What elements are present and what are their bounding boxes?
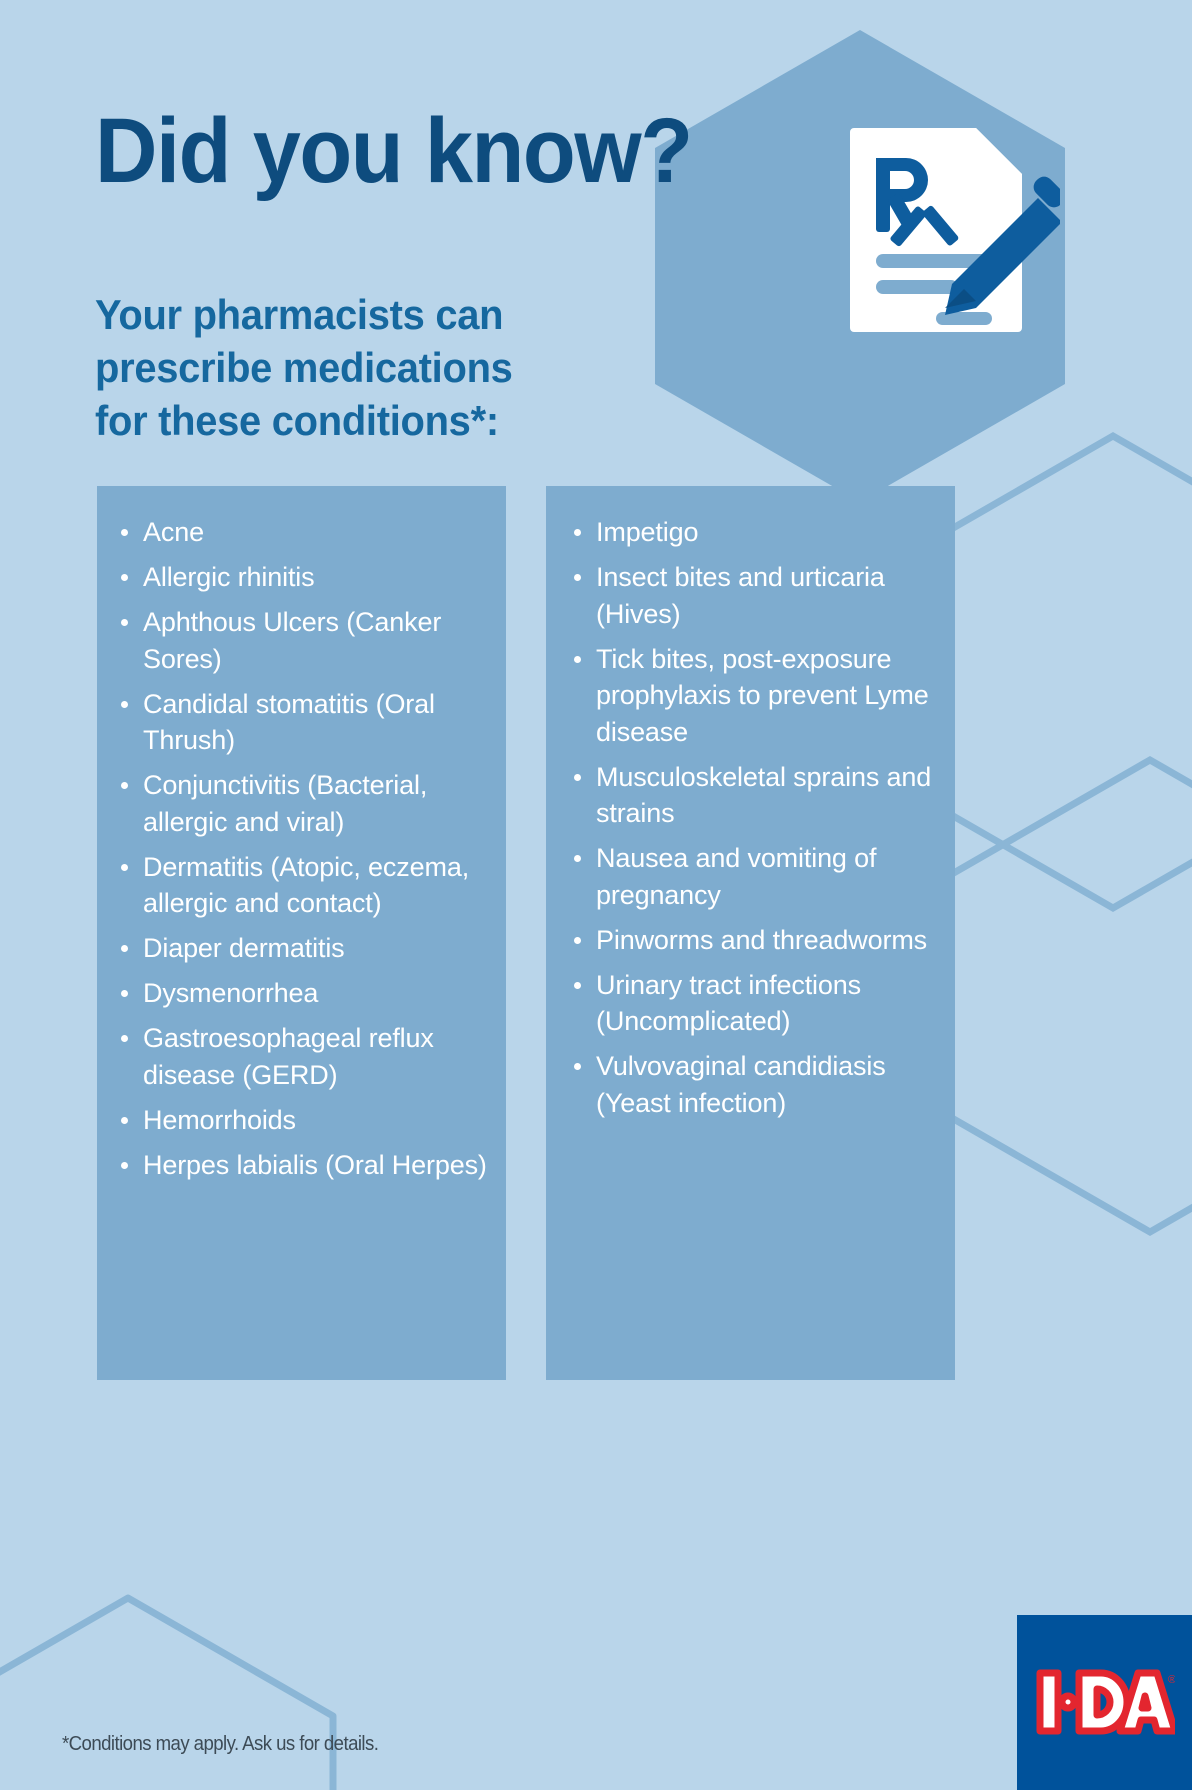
conditions-panel-left: Acne Allergic rhinitis Aphthous Ulcers (… <box>97 486 506 1380</box>
conditions-panel-right: Impetigo Insect bites and urticaria (Hiv… <box>546 486 955 1380</box>
list-item: Impetigo <box>568 514 958 551</box>
list-item: Dermatitis (Atopic, eczema, allergic and… <box>115 849 507 922</box>
list-item: Diaper dermatitis <box>115 930 507 967</box>
list-item: Conjunctivitis (Bacterial, allergic and … <box>115 767 507 840</box>
list-item: Candidal stomatitis (Oral Thrush) <box>115 686 507 759</box>
subtitle-line-1: Your pharmacists can <box>95 288 513 341</box>
document-folded-corner <box>976 128 1022 174</box>
hexagon-outline-bottom-left <box>0 1598 333 1790</box>
list-item: Herpes labialis (Oral Herpes) <box>115 1147 507 1184</box>
list-item: Pinworms and threadworms <box>568 922 958 959</box>
document-signature-line <box>936 312 992 325</box>
subtitle-line-3: for these conditions*: <box>95 394 513 447</box>
hexagon-outline-right-lower <box>945 760 1192 1232</box>
disclaimer-text: *Conditions may apply. Ask us for detail… <box>62 1733 378 1756</box>
list-item: Nausea and vomiting of pregnancy <box>568 840 958 913</box>
list-item: Urinary tract infections (Uncomplicated) <box>568 967 958 1040</box>
list-item: Dysmenorrhea <box>115 975 507 1012</box>
list-item: Hemorrhoids <box>115 1102 507 1139</box>
conditions-list-left: Acne Allergic rhinitis Aphthous Ulcers (… <box>115 514 507 1192</box>
subtitle-line-2: prescribe medications <box>95 341 513 394</box>
list-item: Insect bites and urticaria (Hives) <box>568 559 958 632</box>
list-item: Acne <box>115 514 507 551</box>
ida-logo-mark: ® <box>1035 1665 1175 1743</box>
list-item: Allergic rhinitis <box>115 559 507 596</box>
ida-logo: ® <box>1017 1615 1192 1790</box>
page-subtitle: Your pharmacists can prescribe medicatio… <box>95 288 513 447</box>
document-line-2 <box>876 280 958 294</box>
list-item: Aphthous Ulcers (Canker Sores) <box>115 604 507 677</box>
list-item: Musculoskeletal sprains and strains <box>568 759 958 832</box>
conditions-list-right: Impetigo Insect bites and urticaria (Hiv… <box>568 514 958 1130</box>
registered-trademark-symbol: ® <box>1168 1674 1175 1686</box>
list-item: Vulvovaginal candidiasis (Yeast infectio… <box>568 1048 958 1121</box>
list-item: Tick bites, post-exposure prophylaxis to… <box>568 641 958 751</box>
list-item: Gastroesophageal reflux disease (GERD) <box>115 1020 507 1093</box>
poster-canvas: Did you know? Your pharmacists can presc… <box>0 0 1192 1790</box>
page-title: Did you know? <box>95 105 692 197</box>
rx-prescription-icon <box>840 120 1060 340</box>
